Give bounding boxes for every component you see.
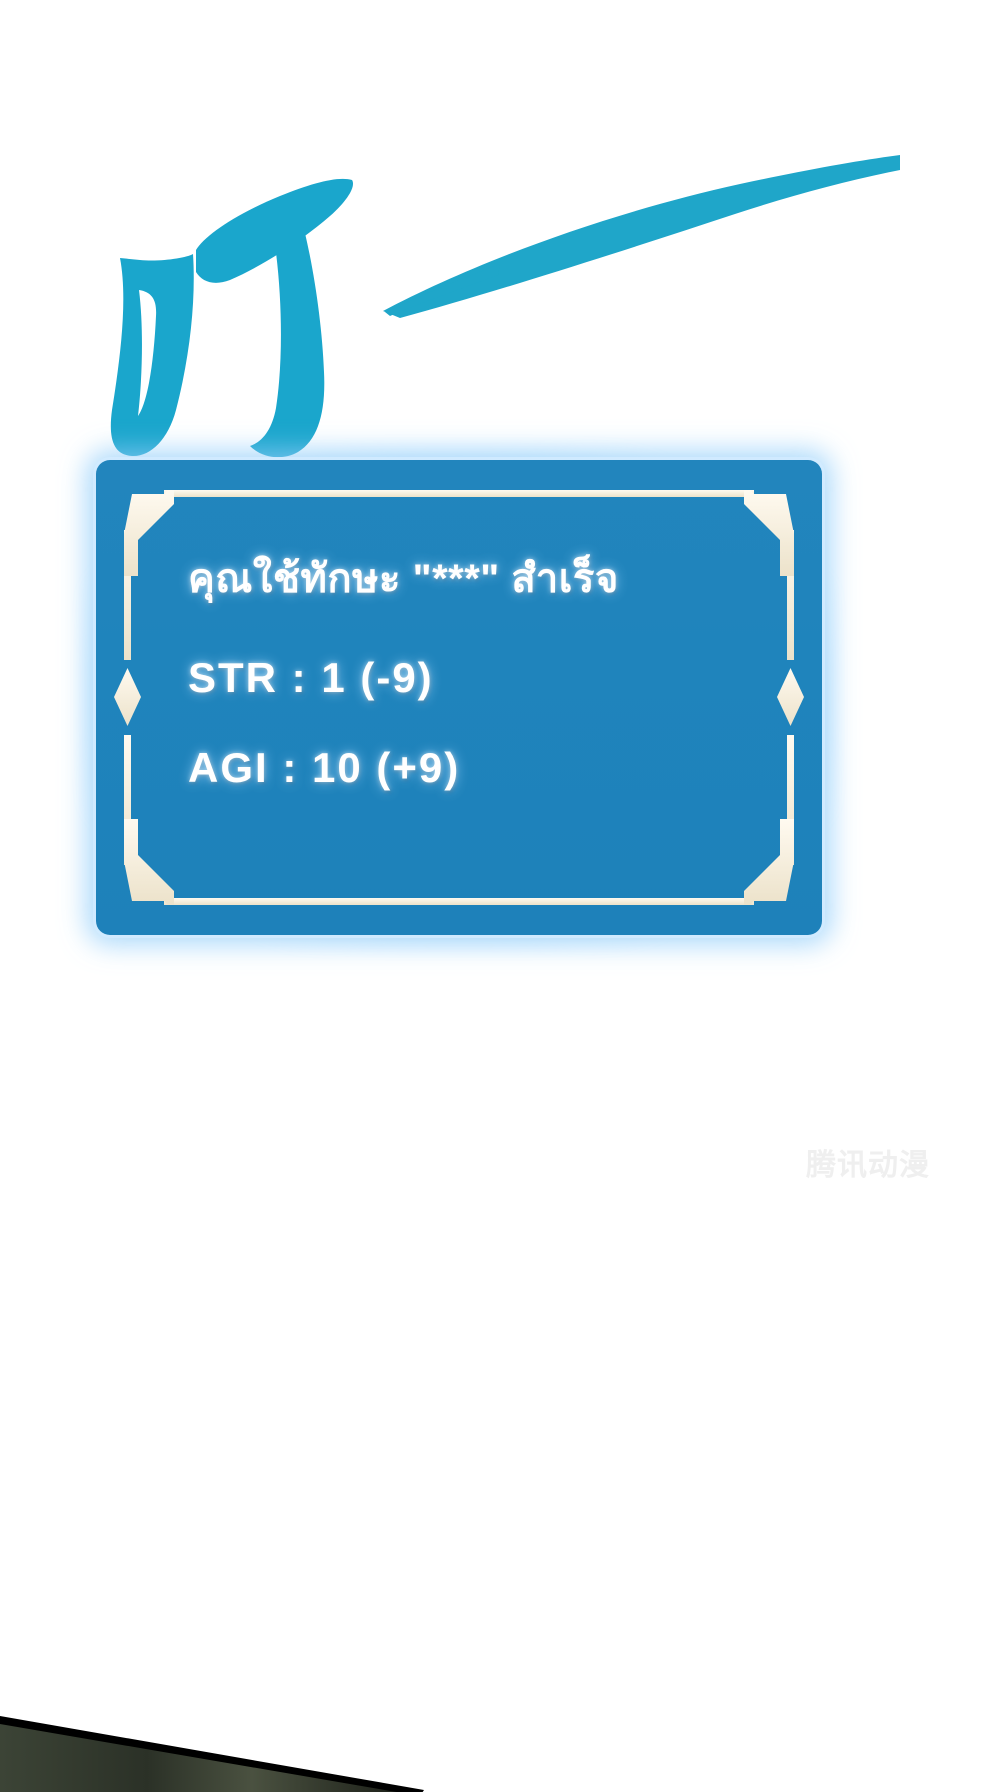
- box-body: คุณใช้ทักษะ "***" สำเร็จ STR : 1 (-9) AG…: [96, 460, 822, 935]
- panel-edge-outline: [0, 1716, 424, 1792]
- frame-diamond-left: [114, 668, 141, 726]
- swoosh-stroke: [383, 155, 900, 318]
- system-notification-box: คุณใช้ทักษะ "***" สำเร็จ STR : 1 (-9) AG…: [96, 460, 822, 935]
- ding-glyph-counter: [138, 290, 156, 416]
- sound-effect-layer: [0, 0, 1000, 520]
- comic-panel: คุณใช้ทักษะ "***" สำเร็จ STR : 1 (-9) AG…: [0, 0, 1000, 1792]
- panel-edge-fill: [0, 1720, 420, 1792]
- tencent-comics-watermark: 腾讯动漫: [806, 1140, 930, 1184]
- frame-bottom-rail: [164, 898, 754, 905]
- frame-corner-bottom-left: [124, 819, 174, 905]
- panel-edge: [0, 1672, 1000, 1792]
- dialog-text-block: คุณใช้ทักษะ "***" สำเร็จ STR : 1 (-9) AG…: [188, 546, 782, 792]
- ding-sound-effect: [0, 0, 1000, 520]
- skill-message-line: คุณใช้ทักษะ "***" สำเร็จ: [188, 546, 782, 610]
- frame-corner-top-left: [124, 490, 174, 576]
- frame-corner-bottom-right: [744, 819, 794, 905]
- swoosh-stroke-group: [0, 0, 1000, 520]
- swoosh-stroke-tail: [385, 264, 500, 316]
- agi-stat-line: AGI : 10 (+9): [188, 744, 782, 792]
- frame-top-rail: [164, 490, 754, 497]
- str-stat-line: STR : 1 (-9): [188, 654, 782, 702]
